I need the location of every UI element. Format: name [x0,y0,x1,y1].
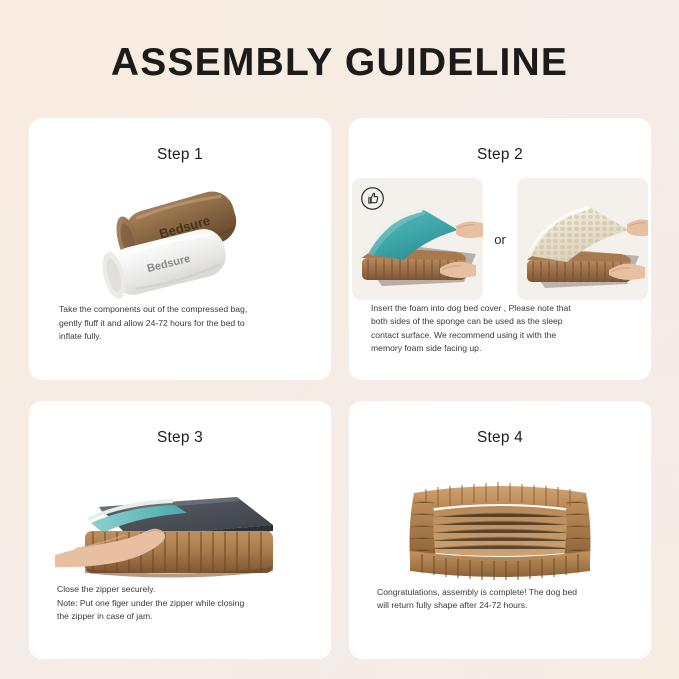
page-title: ASSEMBLY GUIDELINE [0,41,679,85]
compressed-bags-graphic: Bedsure Bedsure [80,180,280,300]
caption-line: inflate fully. [59,330,303,344]
teal-foam-side-panel [352,178,483,300]
right-bolster [564,493,591,559]
step-card-2: Step 2 [349,118,651,380]
step-2-panels: or [349,173,651,305]
memory-foam-insert-graphic [517,196,648,296]
step-card-3: Step 3 [29,401,331,659]
step-1-illustration: Bedsure Bedsure [29,180,331,305]
step-card-4: Step 4 [349,401,651,659]
steps-grid: Step 1 [29,118,651,659]
caption-line: both sides of the sponge can be used as … [371,315,631,329]
step-3-caption: Close the zipper securely. Note: Put one… [29,583,331,624]
step-2-caption: Insert the foam into dog bed cover , Ple… [349,302,651,356]
hand-closing-zipper-graphic [55,471,305,596]
assembly-guideline-page: ASSEMBLY GUIDELINE Step 1 [0,0,679,679]
step-1-heading: Step 1 [29,118,331,164]
caption-line: contact surface. We recommend using it w… [371,329,631,343]
finished-dog-bed-graphic [380,459,620,587]
memory-foam-side-panel [517,178,648,300]
step-4-caption: Congratulations, assembly is complete! T… [349,586,651,613]
step-3-heading: Step 3 [29,401,331,447]
caption-line: Take the components out of the compresse… [59,303,303,317]
step-4-heading: Step 4 [349,401,651,447]
step-1-caption: Take the components out of the compresse… [29,303,331,344]
caption-line: Close the zipper securely. [57,583,309,597]
step-2-heading: Step 2 [349,118,651,164]
caption-line: Insert the foam into dog bed cover , Ple… [371,302,631,316]
teal-foam-insert-graphic [352,196,483,296]
inner-cushion [416,506,586,556]
caption-line: will return fully shape after 24-72 hour… [377,599,623,613]
caption-line: memory foam side facing up. [371,342,631,356]
caption-line: Congratulations, assembly is complete! T… [377,586,623,600]
or-separator: or [487,232,513,247]
caption-line: the zipper in case of jam. [57,610,309,624]
caption-line: Note: Put one figer under the zipper whi… [57,597,309,611]
step-card-1: Step 1 [29,118,331,380]
left-bolster [410,493,437,559]
caption-line: gently fluff it and allow 24-72 hours fo… [59,317,303,331]
